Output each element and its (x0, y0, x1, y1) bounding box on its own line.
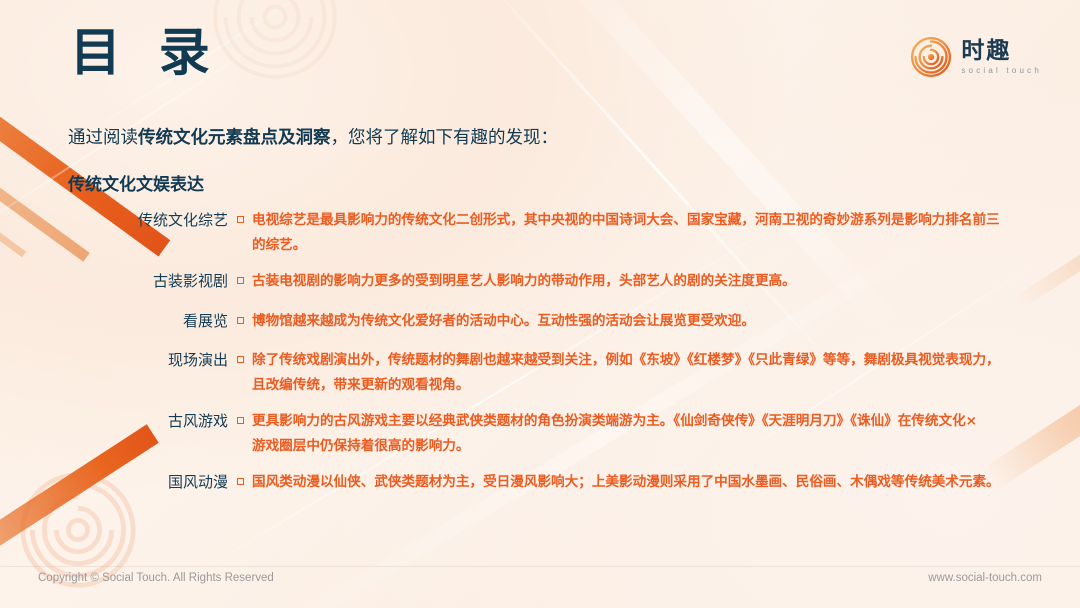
hollow-square-bullet-icon (228, 269, 252, 293)
toc-row-text-line2: 游戏圈层中仍保持着很高的影响力。 (252, 434, 1018, 459)
page-title: 目 录 (70, 28, 220, 79)
toc-row-label: 古装影视剧 (118, 269, 228, 293)
hollow-square-bullet-icon (228, 309, 252, 333)
brand-name-cn: 时趣 (961, 39, 1011, 63)
toc-row-text-line1: 国风类动漫以仙侠、武侠类题材为主，受日漫风影响大；上美影动漫则采用了中国水墨画、… (252, 474, 1000, 490)
hollow-square-bullet-icon (228, 208, 252, 232)
toc-row-text-line2: 且改编传统，带来更新的观看视角。 (252, 373, 1018, 398)
hollow-square-bullet-icon (228, 409, 252, 433)
intro-emphasis: 传统文化元素盘点及洞察 (138, 128, 331, 148)
toc-row: 传统文化综艺 电视综艺是最具影响力的传统文化二创形式，其中央视的中国诗词大会、国… (118, 208, 1018, 258)
toc-row-text-line2: 的综艺。 (252, 233, 1018, 258)
intro-line: 通过阅读传统文化元素盘点及洞察，您将了解如下有趣的发现： (68, 124, 558, 149)
toc-row: 古装影视剧 古装电视剧的影响力更多的受到明星艺人影响力的带动作用，头部艺人的剧的… (118, 269, 1018, 294)
toc-row-label: 传统文化综艺 (118, 208, 228, 232)
brand-logo: 时趣 social touch (910, 36, 1042, 78)
toc-row-text: 古装电视剧的影响力更多的受到明星艺人影响力的带动作用，头部艺人的剧的关注度更高。 (252, 269, 1018, 294)
toc-row-text-line1: 更具影响力的古风游戏主要以经典武侠类题材的角色扮演类端游为主。《仙剑奇侠传》《天… (252, 413, 977, 429)
toc-row-label: 古风游戏 (118, 409, 228, 433)
toc-row-text: 博物馆越来越成为传统文化爱好者的活动中心。互动性强的活动会让展览更受欢迎。 (252, 309, 1018, 334)
toc-row-text: 国风类动漫以仙侠、武侠类题材为主，受日漫风影响大；上美影动漫则采用了中国水墨画、… (252, 470, 1018, 495)
toc-row-text: 电视综艺是最具影响力的传统文化二创形式，其中央视的中国诗词大会、国家宝藏，河南卫… (252, 208, 1018, 258)
brand-logo-text: 时趣 social touch (961, 39, 1042, 75)
toc-row-text-line1: 除了传统戏剧演出外，传统题材的舞剧也越来越受到关注，例如《东坡》《红楼梦》《只此… (252, 352, 1000, 368)
toc-row: 古风游戏 更具影响力的古风游戏主要以经典武侠类题材的角色扮演类端游为主。《仙剑奇… (118, 409, 1018, 459)
toc-row: 看展览 博物馆越来越成为传统文化爱好者的活动中心。互动性强的活动会让展览更受欢迎… (118, 309, 1018, 334)
toc-row-label: 国风动漫 (118, 470, 228, 494)
intro-tail: ，您将了解如下有趣的发现： (331, 128, 559, 148)
toc-list: 传统文化综艺 电视综艺是最具影响力的传统文化二创形式，其中央视的中国诗词大会、国… (118, 208, 1018, 511)
spiral-icon (910, 36, 952, 78)
brand-name-en: social touch (961, 66, 1042, 75)
toc-row-text: 更具影响力的古风游戏主要以经典武侠类题材的角色扮演类端游为主。《仙剑奇侠传》《天… (252, 409, 1018, 459)
footer-copyright: Copyright © Social Touch. All Rights Res… (38, 572, 274, 584)
toc-row-text-line1: 电视综艺是最具影响力的传统文化二创形式，其中央视的中国诗词大会、国家宝藏，河南卫… (252, 212, 1000, 228)
toc-row-text-line1: 古装电视剧的影响力更多的受到明星艺人影响力的带动作用，头部艺人的剧的关注度更高。 (252, 273, 796, 289)
toc-row-text: 除了传统戏剧演出外，传统题材的舞剧也越来越受到关注，例如《东坡》《红楼梦》《只此… (252, 348, 1018, 398)
footer-divider (0, 566, 1080, 567)
toc-row-label: 看展览 (118, 309, 228, 333)
toc-row: 现场演出 除了传统戏剧演出外，传统题材的舞剧也越来越受到关注，例如《东坡》《红楼… (118, 348, 1018, 398)
footer-website: www.social-touch.com (928, 572, 1042, 584)
intro-lead: 通过阅读 (68, 128, 138, 148)
section-heading: 传统文化文娱表达 (68, 170, 204, 195)
toc-row-text-line1: 博物馆越来越成为传统文化爱好者的活动中心。互动性强的活动会让展览更受欢迎。 (252, 313, 755, 329)
hollow-square-bullet-icon (228, 470, 252, 494)
toc-row: 国风动漫 国风类动漫以仙侠、武侠类题材为主，受日漫风影响大；上美影动漫则采用了中… (118, 470, 1018, 495)
toc-row-label: 现场演出 (118, 348, 228, 372)
hollow-square-bullet-icon (228, 348, 252, 372)
slide-canvas: 目 录 时趣 social touch 通过阅读传统文化元素盘点及洞 (0, 0, 1080, 608)
